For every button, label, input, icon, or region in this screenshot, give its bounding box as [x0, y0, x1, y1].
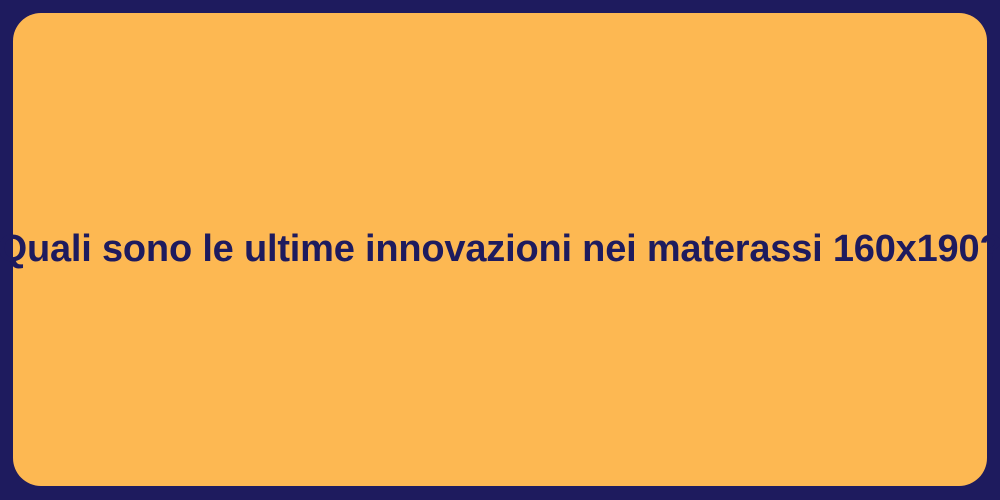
banner-card: Quali sono le ultime innovazioni nei mat… [13, 13, 987, 486]
banner-frame: Quali sono le ultime innovazioni nei mat… [0, 0, 1000, 500]
banner-headline: Quali sono le ultime innovazioni nei mat… [0, 226, 1000, 274]
